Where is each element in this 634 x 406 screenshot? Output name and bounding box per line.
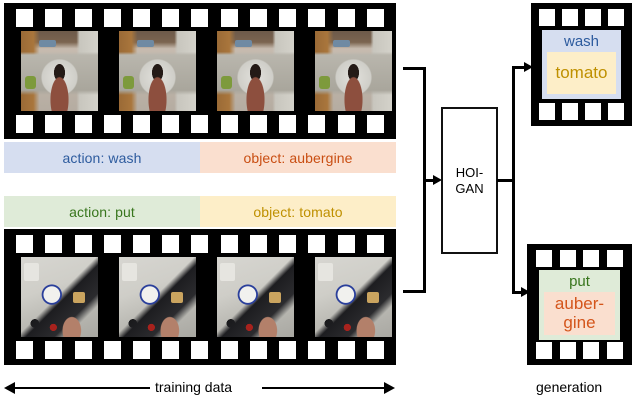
sprocket-hole: [162, 9, 179, 27]
generated-clip-wash-tomato: wash tomato: [542, 30, 621, 99]
sprocket-hole: [16, 235, 33, 253]
video-frame: [315, 257, 392, 337]
generated-object-line: auber-: [555, 295, 604, 313]
sprocket-row-top: [4, 235, 396, 253]
video-frames-row: [4, 31, 408, 111]
generated-object-line: tomato: [556, 64, 608, 82]
sprocket-hole: [607, 250, 623, 267]
sprocket-hole: [133, 235, 150, 253]
sprocket-hole: [221, 9, 238, 27]
sprocket-hole: [367, 341, 384, 359]
sprocket-hole: [539, 9, 555, 26]
sprocket-hole: [75, 341, 92, 359]
video-frame: [315, 31, 392, 111]
sprocket-hole: [536, 250, 552, 267]
sprocket-hole: [585, 103, 601, 120]
sprocket-hole: [308, 9, 325, 27]
sprocket-row-bottom: [527, 342, 632, 359]
sprocket-hole: [45, 341, 62, 359]
sprocket-hole: [104, 341, 121, 359]
sprocket-hole: [536, 342, 552, 359]
generated-object-label: tomato: [547, 52, 616, 94]
sprocket-hole: [583, 250, 599, 267]
video-frame: [119, 257, 196, 337]
sprocket-hole: [75, 9, 92, 27]
sprocket-hole: [162, 341, 179, 359]
wire-output-vertical: [512, 66, 515, 294]
generation-label: generation: [536, 379, 602, 395]
training-data-label: training data: [155, 379, 232, 395]
sprocket-hole: [279, 235, 296, 253]
sprocket-hole: [367, 9, 384, 27]
sprocket-row-bottom: [531, 103, 632, 120]
sprocket-hole: [191, 115, 208, 133]
video-frame: [119, 31, 196, 111]
video-frame: [21, 31, 98, 111]
sprocket-row-top: [4, 9, 396, 27]
sprocket-hole: [338, 235, 355, 253]
sprocket-hole: [279, 341, 296, 359]
label-bar-put-tomato: action: put object: tomato: [4, 196, 396, 227]
sprocket-hole: [162, 235, 179, 253]
model-name-line1: HOI-: [456, 165, 483, 180]
generated-action-label: wash: [542, 30, 621, 52]
sprocket-hole: [104, 9, 121, 27]
generated-object-label: auber- gine: [544, 292, 615, 335]
sprocket-hole: [191, 235, 208, 253]
wire-input-bottom-horizontal: [403, 290, 426, 293]
video-frame: [217, 257, 294, 337]
sprocket-hole: [221, 341, 238, 359]
sprocket-hole: [221, 235, 238, 253]
sprocket-hole: [608, 9, 624, 26]
sprocket-hole: [539, 103, 555, 120]
sprocket-hole: [221, 115, 238, 133]
sprocket-hole: [250, 235, 267, 253]
sprocket-hole: [562, 103, 578, 120]
sprocket-hole: [250, 9, 267, 27]
sprocket-hole: [104, 235, 121, 253]
sprocket-hole: [562, 9, 578, 26]
label-action-put: action: put: [4, 196, 200, 227]
generated-action-label: put: [539, 270, 620, 292]
sprocket-hole: [45, 235, 62, 253]
sprocket-hole: [607, 342, 623, 359]
sprocket-hole: [338, 341, 355, 359]
sprocket-hole: [133, 115, 150, 133]
sprocket-hole: [75, 115, 92, 133]
sprocket-hole: [191, 9, 208, 27]
generated-object-line: gine: [563, 314, 595, 332]
sprocket-hole: [560, 342, 576, 359]
sprocket-row-top: [531, 9, 632, 26]
sprocket-row-top: [527, 250, 632, 267]
sprocket-hole: [104, 115, 121, 133]
generation-filmstrip-wash-tomato: wash tomato: [531, 3, 632, 126]
sprocket-hole: [608, 103, 624, 120]
sprocket-hole: [250, 341, 267, 359]
label-action-wash: action: wash: [4, 142, 200, 173]
training-filmstrip-wash: [4, 3, 396, 139]
sprocket-hole: [133, 341, 150, 359]
sprocket-hole: [133, 9, 150, 27]
sprocket-hole: [16, 115, 33, 133]
label-bar-wash-aubergine: action: wash object: aubergine: [4, 142, 396, 173]
sprocket-hole: [16, 9, 33, 27]
training-filmstrip-put: [4, 229, 396, 365]
sprocket-hole: [308, 115, 325, 133]
sprocket-hole: [279, 115, 296, 133]
sprocket-hole: [367, 115, 384, 133]
sprocket-row-bottom: [4, 341, 396, 359]
sprocket-hole: [583, 342, 599, 359]
video-frame: [21, 257, 98, 337]
video-frame: [217, 31, 294, 111]
sprocket-hole: [308, 235, 325, 253]
generated-clip-put-aubergine: put auber- gine: [539, 270, 620, 340]
generation-filmstrip-put-aubergine: put auber- gine: [527, 244, 632, 365]
sprocket-hole: [338, 115, 355, 133]
sprocket-hole: [250, 115, 267, 133]
training-axis-line-left: [14, 387, 150, 389]
sprocket-hole: [338, 9, 355, 27]
sprocket-hole: [162, 115, 179, 133]
training-axis-right-arrowhead: [384, 382, 395, 394]
sprocket-hole: [308, 341, 325, 359]
sprocket-hole: [560, 250, 576, 267]
hoi-gan-model-box[interactable]: HOI- GAN: [441, 107, 498, 254]
sprocket-hole: [191, 341, 208, 359]
sprocket-hole: [45, 9, 62, 27]
sprocket-hole: [16, 341, 33, 359]
sprocket-hole: [75, 235, 92, 253]
training-axis-line-right: [262, 387, 385, 389]
sprocket-row-bottom: [4, 115, 396, 133]
sprocket-hole: [45, 115, 62, 133]
label-object-tomato: object: tomato: [200, 196, 396, 227]
sprocket-hole: [585, 9, 601, 26]
sprocket-hole: [367, 235, 384, 253]
model-name-line2: GAN: [455, 181, 483, 196]
video-frames-row: [4, 257, 408, 337]
sprocket-hole: [279, 9, 296, 27]
label-object-aubergine: object: aubergine: [200, 142, 396, 173]
